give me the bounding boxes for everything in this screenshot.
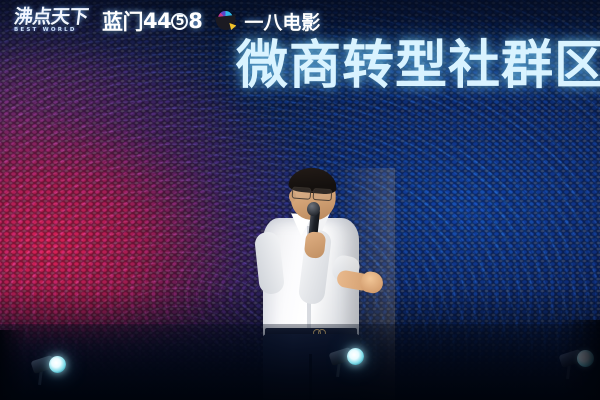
foreground-edge-right [560,320,600,400]
speaker-gesturing-hand [359,270,385,296]
sponsor-logo-strip: 沸点天下 BEST WORLD 蓝门 44 5 8 一八电影 [14,6,320,36]
logo-best-world: 沸点天下 BEST WORLD [14,8,88,34]
logo-best-world-en: BEST WORLD [14,28,77,34]
logo-yiba-film: 一八电影 [216,8,320,35]
stage-floor [0,324,600,400]
logo-best-world-cn: 沸点天下 [13,8,89,27]
logo-lanmen-prefix: 蓝门 [102,6,143,36]
screen-headline: 微商转型社群区 [236,40,600,92]
logo-lanmen-digits-after: 8 [188,9,202,33]
color-wheel-swoosh-icon [216,11,238,31]
foreground-edge-left [0,330,26,400]
glasses-icon [292,186,337,200]
logo-lanmen-digits-before: 44 [143,9,171,33]
stage-photo: 沸点天下 BEST WORLD 蓝门 44 5 8 一八电影 微商转型社群区 [0,0,600,400]
logo-lanmen-circled-digit: 5 [171,13,188,30]
logo-yiba-film-label: 一八电影 [244,8,320,35]
logo-lanmen: 蓝门 44 5 8 [102,6,202,36]
